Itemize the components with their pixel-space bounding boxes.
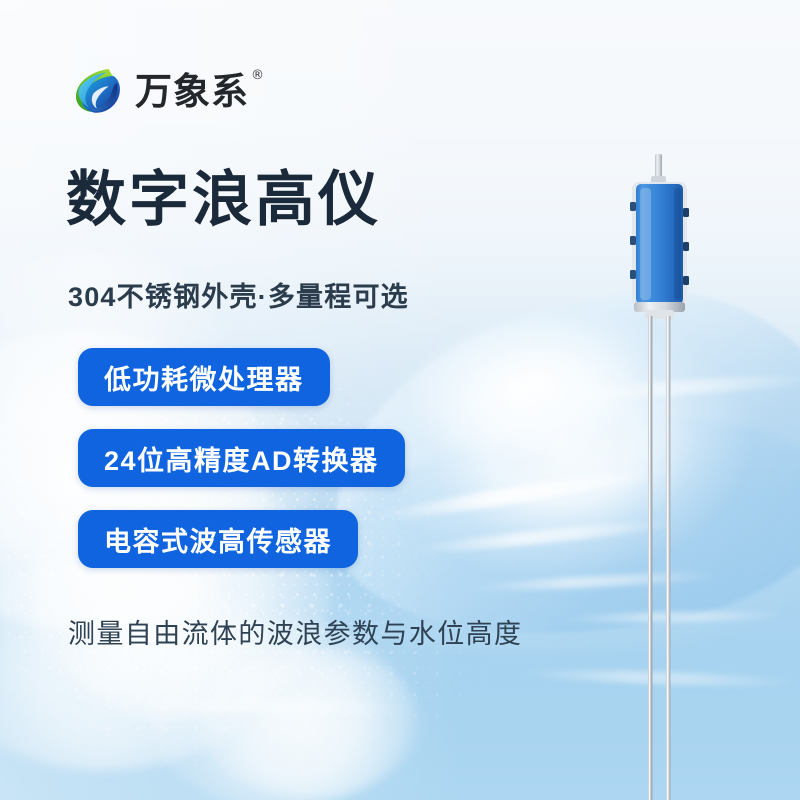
feature-pill-sensor: 电容式波高传感器 [78, 510, 358, 568]
globe-swirl-logo-icon [68, 62, 126, 120]
feature-pill-processor: 低功耗微处理器 [78, 348, 330, 406]
page-title: 数字浪高仪 [66, 166, 381, 233]
head-port-notch [683, 242, 689, 251]
rod-highlight-left [649, 316, 650, 800]
probe-rod-right [666, 316, 670, 800]
head-port-notch [630, 270, 636, 279]
brand-wordmark-text: 万象系 [135, 70, 249, 113]
tagline: 测量自由流体的波浪参数与水位高度 [68, 612, 522, 651]
subtitle: 304不锈钢外壳·多量程可选 [68, 275, 409, 314]
wave-height-gauge-illustration [612, 150, 708, 800]
head-port-notch [630, 236, 636, 245]
rod-highlight-right [667, 316, 668, 800]
brand-logo: 万象系 ® [68, 62, 265, 120]
head-specular-highlight [640, 188, 651, 300]
registered-trademark-icon: ® [251, 69, 265, 82]
probe-rod-left [648, 316, 652, 800]
product-poster: 万象系 ® 数字浪高仪 304不锈钢外壳·多量程可选 低功耗微处理器 24位高精… [0, 0, 800, 800]
head-port-notch [683, 208, 689, 217]
brand-wordmark: 万象系 ® [135, 73, 265, 110]
head-shadow-edge [674, 188, 681, 300]
feature-pill-adc: 24位高精度AD转换器 [78, 429, 405, 487]
head-port-notch [630, 202, 636, 211]
product-image-wave-height-gauge [612, 150, 708, 800]
head-port-notch [683, 276, 689, 285]
